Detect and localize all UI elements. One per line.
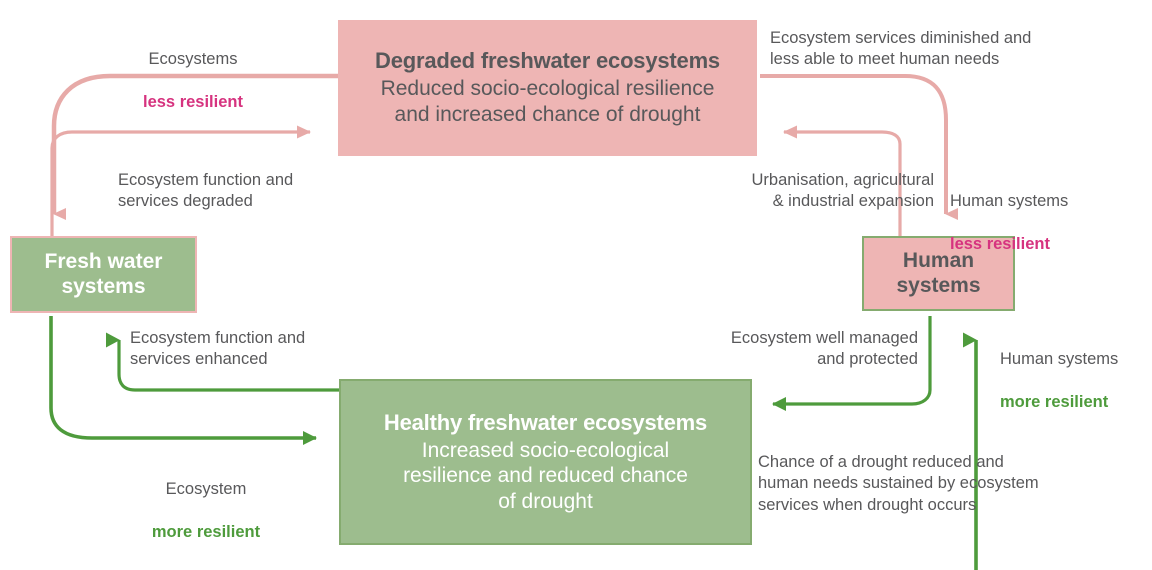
label-human-systems-less-resilient: Human systems less resilient <box>950 170 1140 255</box>
label-ecosystem-function-degraded: Ecosystem function and services degraded <box>118 170 318 213</box>
box-freshwater-title: Fresh water systems <box>45 250 163 300</box>
label-ecosystem-more-resilient: Ecosystem more resilient <box>108 458 304 543</box>
label-human-systems-less-resilient-line1: Human systems <box>950 192 1068 210</box>
label-human-systems-more-resilient: Human systems more resilient <box>1000 328 1148 413</box>
label-ecosystem-function-enhanced: Ecosystem function and services enhanced <box>130 328 330 371</box>
label-human-systems-more-resilient-line1: Human systems <box>1000 350 1118 368</box>
label-ecosystem-services-diminished: Ecosystem services diminished and less a… <box>770 28 1070 71</box>
box-degraded-subtitle: Reduced socio-ecological resilience and … <box>381 76 715 127</box>
label-urbanisation-agricultural-industrial-expansion: Urbanisation, agricultural & industrial … <box>706 170 934 213</box>
box-degraded-title: Degraded freshwater ecosystems <box>375 48 720 74</box>
box-degraded-freshwater-ecosystems: Degraded freshwater ecosystems Reduced s… <box>338 20 757 156</box>
box-healthy-title: Healthy freshwater ecosystems <box>384 410 707 436</box>
label-ecosystem-more-resilient-line2: more resilient <box>152 523 260 541</box>
label-ecosystems-less-resilient-line2: less resilient <box>143 93 243 111</box>
box-human-title: Human systems <box>896 249 980 299</box>
label-human-systems-more-resilient-line2: more resilient <box>1000 393 1108 411</box>
resilience-cycle-diagram: Degraded freshwater ecosystems Reduced s… <box>0 0 1152 570</box>
box-fresh-water-systems: Fresh water systems <box>10 236 197 313</box>
label-ecosystems-less-resilient: Ecosystems less resilient <box>108 28 278 113</box>
label-ecosystem-more-resilient-line1: Ecosystem <box>166 480 247 498</box>
box-healthy-freshwater-ecosystems: Healthy freshwater ecosystems Increased … <box>339 379 752 545</box>
label-ecosystems-less-resilient-line1: Ecosystems <box>149 50 238 68</box>
label-ecosystem-well-managed: Ecosystem well managed and protected <box>700 328 918 371</box>
box-healthy-subtitle: Increased socio-ecological resilience an… <box>403 438 688 515</box>
label-human-systems-less-resilient-line2: less resilient <box>950 235 1050 253</box>
label-chance-of-drought-reduced: Chance of a drought reduced and human ne… <box>758 452 1058 516</box>
